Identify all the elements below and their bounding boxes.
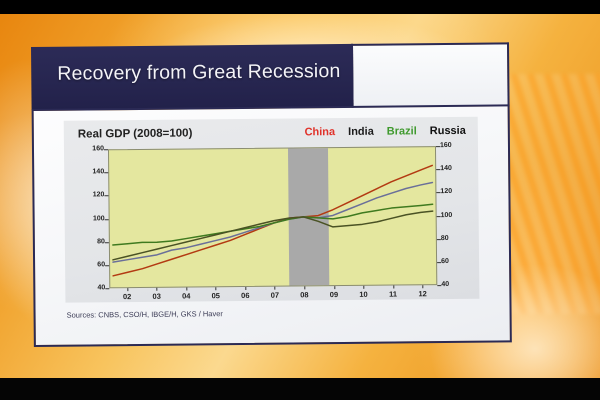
x-tick-label-10: 10 <box>353 290 373 299</box>
x-tick-label-03: 03 <box>147 292 167 301</box>
x-tick-label-06: 06 <box>235 291 255 300</box>
x-tick-04 <box>186 288 187 291</box>
y-tick-left-100 <box>105 219 109 220</box>
y-tick-label-right-40: 40 <box>441 281 467 288</box>
y-tick-left-80 <box>105 242 109 243</box>
x-tick-label-07: 07 <box>265 291 285 300</box>
x-tick-label-02: 02 <box>117 292 137 301</box>
y-tick-label-right-140: 140 <box>440 165 466 172</box>
legend-item-india: India <box>348 126 374 138</box>
legend-item-brazil: Brazil <box>387 125 417 137</box>
y-tick-right-140 <box>436 169 440 170</box>
line-india <box>112 183 433 263</box>
x-tick-11 <box>393 286 394 289</box>
legend-item-russia: Russia <box>430 125 466 137</box>
slide: Recovery from Great Recession Real GDP (… <box>31 42 516 352</box>
x-tick-label-05: 05 <box>206 291 226 300</box>
x-tick-07 <box>275 287 276 290</box>
y-tick-left-140 <box>104 172 108 173</box>
bottom-letterbox-bar <box>0 378 600 400</box>
y-tick-label-left-140: 140 <box>78 168 104 175</box>
y-tick-left-120 <box>104 196 108 197</box>
series-lines <box>109 147 436 287</box>
line-russia <box>113 211 434 260</box>
y-tick-label-right-160: 160 <box>440 142 466 149</box>
page-title: Recovery from Great Recession <box>57 60 340 86</box>
x-tick-label-12: 12 <box>413 289 433 298</box>
plot-area <box>108 146 437 288</box>
y-tick-label-right-80: 80 <box>441 234 467 241</box>
y-tick-label-left-60: 60 <box>79 261 105 268</box>
slide-top-strip <box>351 42 510 108</box>
y-tick-right-160 <box>436 146 440 147</box>
x-tick-09 <box>334 286 335 289</box>
y-tick-label-left-120: 120 <box>78 192 104 199</box>
x-tick-12 <box>423 285 424 288</box>
x-tick-label-04: 04 <box>176 291 196 300</box>
legend-item-china: China <box>304 126 335 138</box>
y-tick-label-left-40: 40 <box>79 284 105 291</box>
y-tick-left-60 <box>105 265 109 266</box>
y-tick-right-80 <box>437 239 441 240</box>
x-tick-label-11: 11 <box>383 289 403 298</box>
x-tick-08 <box>304 286 305 289</box>
y-tick-right-60 <box>437 262 441 263</box>
y-tick-left-160 <box>104 149 108 150</box>
y-tick-right-120 <box>436 192 440 193</box>
y-tick-label-right-100: 100 <box>441 211 467 218</box>
y-tick-label-left-100: 100 <box>79 215 105 222</box>
chart-panel: Real GDP (2008=100) ChinaIndiaBrazilRuss… <box>64 117 480 303</box>
x-tick-label-09: 09 <box>324 290 344 299</box>
chart-header: Real GDP (2008=100) ChinaIndiaBrazilRuss… <box>78 125 470 147</box>
sources-note: Sources: CNBS, CSO/H, IBGE/H, GKS / Have… <box>67 309 223 319</box>
projected-slide-photo: Recovery from Great Recession Real GDP (… <box>0 0 600 400</box>
chart-title: Real GDP (2008=100) <box>78 127 193 140</box>
x-tick-10 <box>363 286 364 289</box>
top-letterbox-bar <box>0 0 600 14</box>
x-tick-03 <box>157 288 158 291</box>
x-tick-label-08: 08 <box>294 290 314 299</box>
chart-axes: 4040606080801001001201201401401601600203… <box>64 117 478 121</box>
title-banner: Recovery from Great Recession <box>31 44 354 110</box>
y-tick-label-right-60: 60 <box>441 258 467 265</box>
y-tick-right-100 <box>437 216 441 217</box>
x-tick-05 <box>216 287 217 290</box>
chart-legend: ChinaIndiaBrazilRussia <box>304 125 465 139</box>
x-tick-06 <box>245 287 246 290</box>
y-tick-right-40 <box>437 285 441 286</box>
x-tick-02 <box>127 288 128 291</box>
y-tick-left-40 <box>105 288 109 289</box>
y-tick-label-right-120: 120 <box>440 188 466 195</box>
slide-body: Real GDP (2008=100) ChinaIndiaBrazilRuss… <box>32 104 512 347</box>
y-tick-label-left-80: 80 <box>79 238 105 245</box>
plot-background <box>108 146 437 288</box>
y-tick-label-left-160: 160 <box>78 145 104 152</box>
line-brazil <box>112 204 432 245</box>
